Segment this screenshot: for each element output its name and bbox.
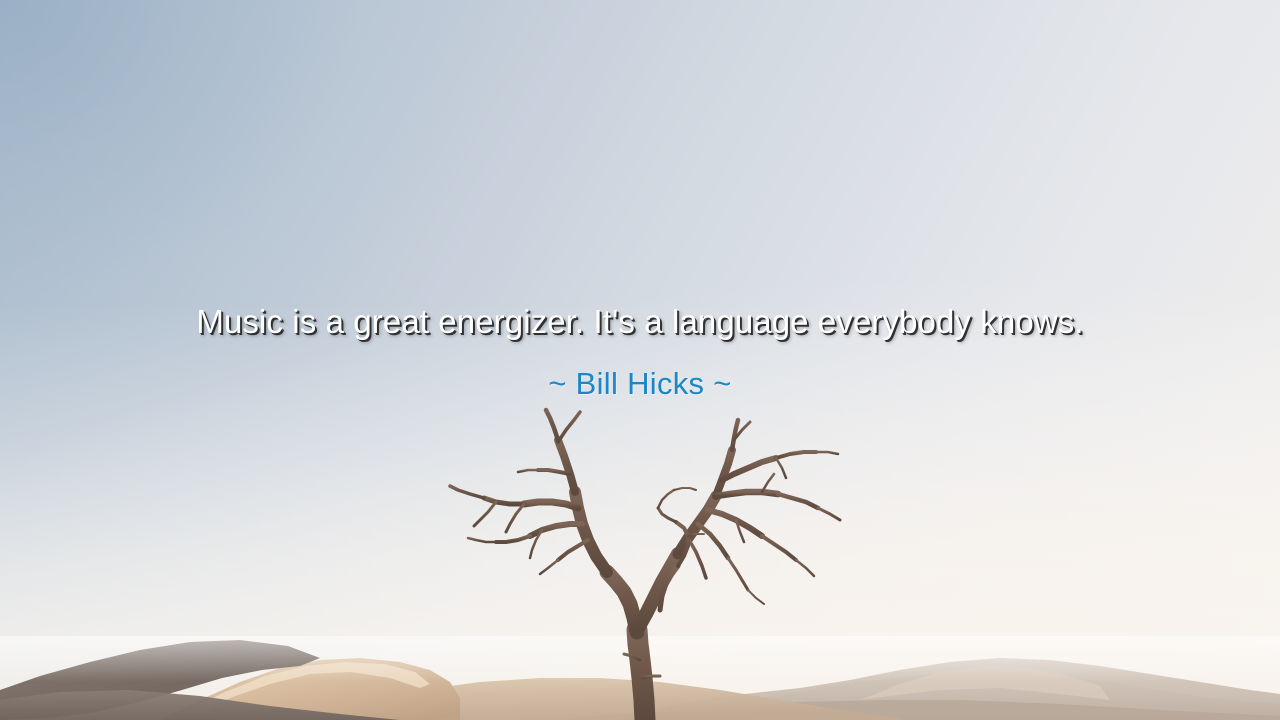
tree-branches (450, 410, 840, 720)
quote-block: Music is a great energizer. It's a langu… (0, 300, 1280, 403)
quote-author: ~ Bill Hicks ~ (0, 365, 1280, 403)
quote-text: Music is a great energizer. It's a langu… (0, 300, 1280, 344)
quote-image-scene: Music is a great energizer. It's a langu… (0, 0, 1280, 720)
